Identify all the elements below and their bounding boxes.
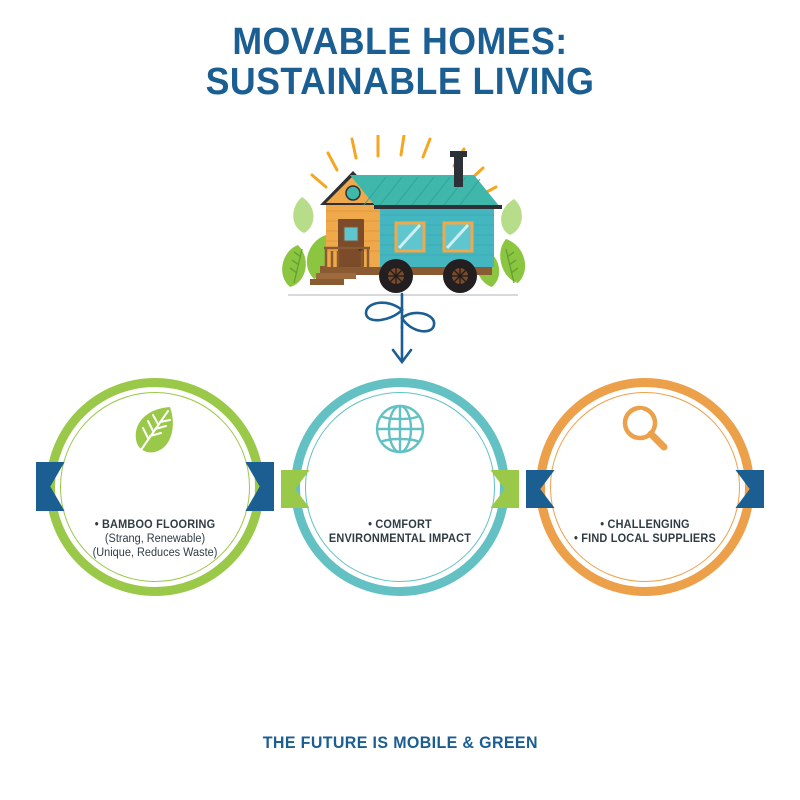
- house-door: [338, 219, 364, 267]
- card-bullet: • COMFORT: [310, 518, 491, 532]
- page-title: MOVABLE HOMES: SUSTAINABLE LIVING: [0, 22, 800, 102]
- door-window: [344, 227, 358, 241]
- tiny-house-illustration: [268, 135, 536, 305]
- feature-card-enhanced-living[interactable]: ENHANCED LIVING • COMFORT ENVIRONMENTAL …: [291, 378, 509, 596]
- globe-icon: [369, 398, 431, 460]
- chimney: [454, 155, 463, 187]
- footer-tagline: THE FUTURE IS MOBILE & GREEN: [262, 733, 537, 753]
- card-bullet: ENVIRONMENTAL IMPACT: [310, 532, 491, 546]
- card-bullet: (Unique, Reduces Waste): [65, 546, 246, 560]
- title-line-2: SUSTAINABLE LIVING: [24, 62, 776, 102]
- card-bullet: • CHALLENGING: [555, 518, 736, 532]
- card-body: • BAMBOO FLOORING (Strang, Renewable) (U…: [60, 518, 250, 560]
- card-body: • COMFORT ENVIRONMENTAL IMPACT: [305, 518, 495, 546]
- footer: THE FUTURE IS MOBILE & GREEN: [0, 733, 800, 753]
- curly-down-arrow-icon: [352, 288, 452, 376]
- card-body: • CHALLENGING • FIND LOCAL SUPPLIERS: [550, 518, 740, 546]
- feature-card-eco-friendly-materials[interactable]: ECO-FRIENDLY MATERIALS • BAMBOO FLOORING…: [46, 378, 264, 596]
- feature-circles-row: ECO-FRIENDLY MATERIALS • BAMBOO FLOORING…: [0, 378, 800, 608]
- card-bullet: • BAMBOO FLOORING: [65, 518, 246, 532]
- house-roof: [350, 175, 500, 207]
- leaf-icon: [124, 398, 186, 460]
- porch-deck: [324, 267, 370, 273]
- title-line-1: MOVABLE HOMES:: [24, 22, 776, 62]
- magnifier-icon: [614, 398, 676, 460]
- card-bullet: (Strang, Renewable): [65, 532, 246, 546]
- gable-window: [346, 186, 360, 200]
- feature-card-sourcing[interactable]: SOURCING • CHALLENGING • FIND LOCAL SUPP…: [536, 378, 754, 596]
- card-bullet: • FIND LOCAL SUPPLIERS: [555, 532, 736, 546]
